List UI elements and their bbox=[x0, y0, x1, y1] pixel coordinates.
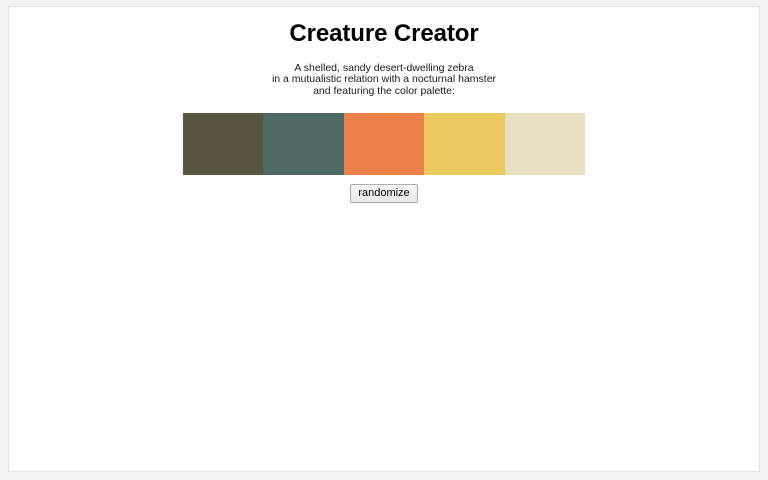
color-palette bbox=[183, 113, 585, 175]
color-swatch-3 bbox=[344, 113, 424, 175]
description-line-3: and featuring the color palette: bbox=[9, 86, 759, 98]
page-title: Creature Creator bbox=[9, 20, 759, 49]
color-swatch-1 bbox=[183, 113, 263, 175]
randomize-button[interactable]: randomize bbox=[350, 184, 417, 203]
color-swatch-2 bbox=[263, 113, 343, 175]
color-swatch-5 bbox=[505, 113, 585, 175]
creature-description: A shelled, sandy desert-dwelling zebra i… bbox=[9, 63, 759, 98]
page-content: Creature Creator A shelled, sandy desert… bbox=[9, 7, 759, 203]
color-swatch-4 bbox=[424, 113, 504, 175]
randomize-row: randomize bbox=[9, 184, 759, 203]
page-frame: Creature Creator A shelled, sandy desert… bbox=[8, 6, 760, 472]
